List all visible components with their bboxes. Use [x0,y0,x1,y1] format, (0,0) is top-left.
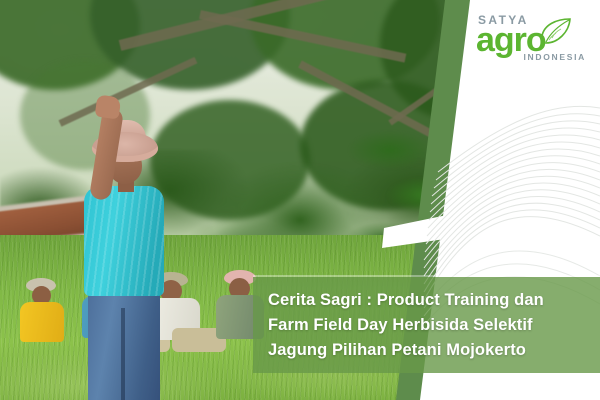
standing-man [52,110,172,400]
article-title-line-3: Jagung Pilihan Petani Mojokerto [268,338,600,363]
article-title-line-2: Farm Field Day Herbisida Selektif [268,313,600,338]
hero-banner: SATYA agro INDONESIA Cerita Sagri : Prod… [0,0,600,400]
jeans [88,290,160,400]
article-title-bar: Cerita Sagri : Product Training dan Farm… [253,277,600,373]
article-title-line-1: Cerita Sagri : Product Training dan [268,288,600,313]
leaf-icon [538,18,572,44]
turquoise-shirt [84,186,164,296]
brand-logo[interactable]: SATYA agro INDONESIA [470,14,588,80]
